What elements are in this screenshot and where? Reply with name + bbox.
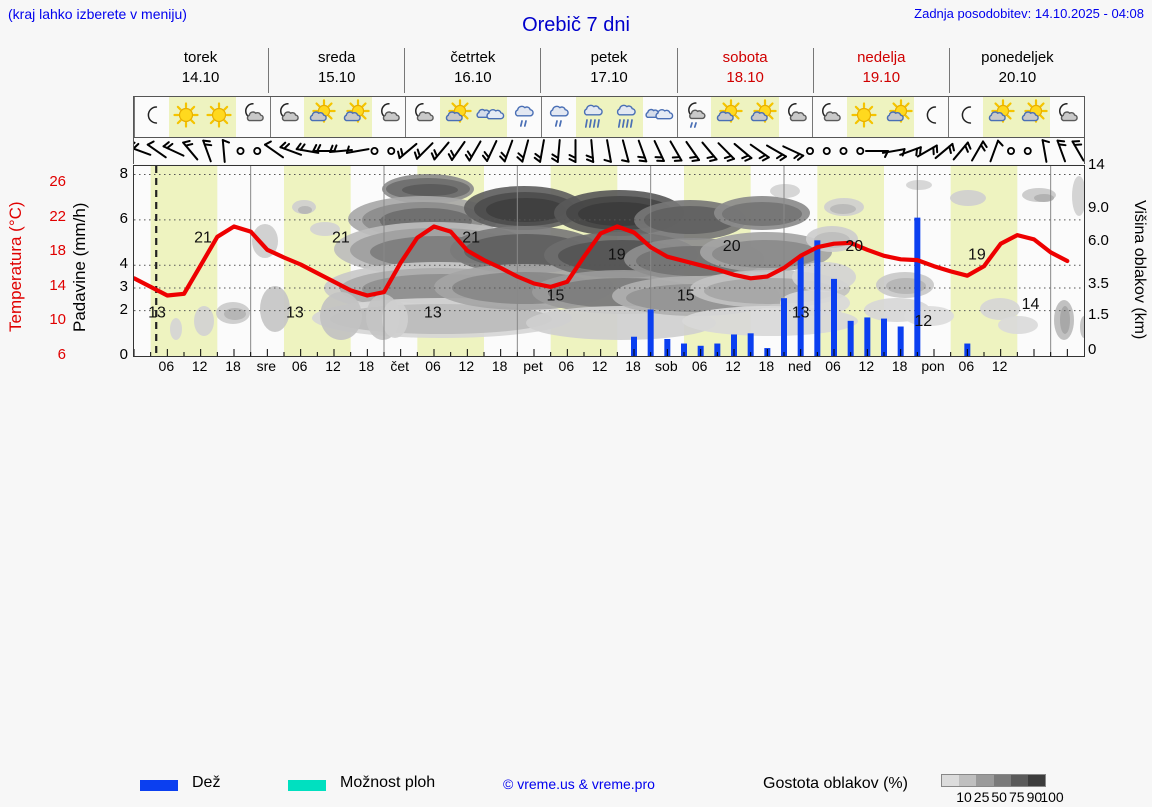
cloud-density-swatch — [959, 775, 976, 786]
cloud-icon — [474, 99, 508, 135]
moon-cloud-icon — [372, 99, 406, 135]
moon-cloud-icon — [779, 99, 813, 135]
day-date: 15.10 — [269, 68, 404, 88]
day-header-ponedeljek: ponedeljek20.10 — [949, 48, 1085, 93]
day-date: 17.10 — [541, 68, 676, 88]
temperature-axis-ticks: 26221814106 — [32, 165, 66, 357]
weather-icon-cell — [677, 97, 712, 137]
weather-icon-cell — [202, 97, 236, 137]
day-header-sreda: sreda15.10 — [268, 48, 404, 93]
moon-cloud-drizzle-icon — [678, 99, 712, 135]
svg-text:19: 19 — [608, 247, 626, 264]
precipitation-tick: 0 — [98, 346, 128, 363]
weather-icon-cell — [474, 97, 508, 137]
moon-cloud-icon — [271, 99, 305, 135]
cloud-icon — [643, 99, 677, 135]
time-tick-label: 18 — [892, 358, 908, 374]
cloud-density-colorbar — [941, 774, 1046, 787]
day-date: 16.10 — [405, 68, 540, 88]
precipitation-tick: 8 — [98, 165, 128, 182]
time-tick-label: 06 — [959, 358, 975, 374]
sun-cloud-icon — [711, 99, 745, 135]
svg-text:13: 13 — [792, 305, 810, 322]
cloud-density-swatch — [976, 775, 993, 786]
last-update: Zadnja posodobitev: 14.10.2025 - 04:08 — [914, 6, 1144, 21]
day-header-nedelja: nedelja19.10 — [813, 48, 949, 93]
time-tick-label: 06 — [825, 358, 841, 374]
time-tick-label: 12 — [725, 358, 741, 374]
time-axis-ticks: 061218sre061218čet061218pet061218sob0612… — [133, 358, 1085, 382]
svg-text:21: 21 — [462, 229, 480, 246]
rain-label: Dež — [192, 774, 220, 792]
svg-text:15: 15 — [547, 287, 565, 304]
cloud-rain-icon — [609, 99, 643, 135]
day-date: 20.10 — [950, 68, 1085, 88]
weather-icon-cell — [711, 97, 745, 137]
day-name: sobota — [678, 48, 813, 68]
weather-icon-cell — [983, 97, 1017, 137]
day-header-torek: torek14.10 — [133, 48, 268, 93]
svg-text:14: 14 — [1022, 296, 1040, 313]
weather-icon-cell — [338, 97, 372, 137]
day-name: ponedeljek — [950, 48, 1085, 68]
moon-icon — [949, 99, 983, 135]
sun-cloud-icon — [338, 99, 372, 135]
weather-icon-cell — [541, 97, 576, 137]
weather-icon-cell — [948, 97, 983, 137]
sun-cloud-icon — [304, 99, 338, 135]
sun-cloud-icon — [881, 99, 915, 135]
day-date: 18.10 — [678, 68, 813, 88]
cloud-density-tick: 100 — [1040, 789, 1063, 805]
cloud-height-tick: 14 — [1088, 156, 1105, 173]
weather-icon-cell — [507, 97, 541, 137]
weather-icon-cell — [270, 97, 305, 137]
precipitation-tick: 6 — [98, 210, 128, 227]
rain-swatch — [140, 780, 178, 791]
weather-icon-cell — [405, 97, 440, 137]
copyright-link[interactable]: © vreme.us & vreme.pro — [503, 776, 655, 792]
temperature-tick: 6 — [32, 346, 66, 363]
temperature-tick: 14 — [32, 277, 66, 294]
weather-icon-cell — [812, 97, 847, 137]
time-tick-label: pet — [523, 358, 542, 374]
day-header-sobota: sobota18.10 — [677, 48, 813, 93]
precipitation-tick: 4 — [98, 255, 128, 272]
time-tick-label: 12 — [992, 358, 1008, 374]
time-tick-label: 18 — [492, 358, 508, 374]
time-tick-label: pon — [921, 358, 944, 374]
cloud-density-tick: 50 — [991, 789, 1007, 805]
time-tick-label: 12 — [859, 358, 875, 374]
svg-text:20: 20 — [723, 238, 741, 255]
weather-icon-cell — [914, 97, 948, 137]
precipitation-tick: 2 — [98, 301, 128, 318]
cloud-density-ticks: 1025507590100 — [936, 789, 1061, 807]
weather-icon-cell — [576, 97, 610, 137]
precipitation-tick: 3 — [98, 278, 128, 295]
day-date: 14.10 — [133, 68, 268, 88]
weather-icon-cell — [847, 97, 881, 137]
time-tick-label: 06 — [692, 358, 708, 374]
temperature-tick: 18 — [32, 242, 66, 259]
day-name: petek — [541, 48, 676, 68]
legend: Dež Možnost ploh © vreme.us & vreme.pro … — [0, 386, 1152, 432]
cloud-density-tick: 75 — [1009, 789, 1025, 805]
svg-text:19: 19 — [968, 247, 986, 264]
weather-icon-cell — [779, 97, 813, 137]
svg-text:13: 13 — [424, 305, 442, 322]
day-header-četrtek: četrtek16.10 — [404, 48, 540, 93]
time-tick-label: 18 — [225, 358, 241, 374]
time-tick-label: 12 — [192, 358, 208, 374]
cloud-height-tick: 3.5 — [1088, 275, 1109, 292]
moon-cloud-icon — [1050, 99, 1084, 135]
moon-icon — [914, 99, 948, 135]
cloud-height-tick: 1.5 — [1088, 306, 1109, 323]
showers-label: Možnost ploh — [340, 774, 435, 792]
time-tick-label: sob — [655, 358, 678, 374]
time-tick-label: 06 — [159, 358, 175, 374]
weather-icon-cell — [881, 97, 915, 137]
moon-cloud-icon — [813, 99, 847, 135]
sun-cloud-icon — [1016, 99, 1050, 135]
cloud-density-tick: 10 — [956, 789, 972, 805]
day-header-row: torek14.10sreda15.10četrtek16.10petek17.… — [133, 48, 1085, 93]
cloud-density-label: Gostota oblakov (%) — [763, 775, 908, 793]
time-tick-label: 06 — [425, 358, 441, 374]
cloud-height-axis-title: Višina oblakov (km) — [1122, 170, 1148, 370]
moon-icon — [135, 99, 169, 135]
weather-icon-band — [133, 96, 1085, 138]
showers-swatch — [288, 780, 326, 791]
time-tick-label: 06 — [292, 358, 308, 374]
precipitation-axis-ticks: 864320 — [98, 165, 128, 357]
svg-text:12: 12 — [914, 313, 932, 330]
precipitation-axis-title: Padavine (mm/h) — [70, 172, 96, 362]
cloud-rain-icon — [576, 99, 610, 135]
cloud-density-swatch — [1028, 775, 1045, 786]
cloud-drizzle-icon — [507, 99, 541, 135]
weather-icon-cell — [169, 97, 203, 137]
moon-cloud-icon — [236, 99, 270, 135]
temperature-tick: 22 — [32, 208, 66, 225]
cloud-height-tick: 6.0 — [1088, 232, 1109, 249]
temperature-axis-title: Temperatura (°C) — [6, 172, 32, 362]
wind-barb-band — [133, 138, 1085, 164]
weather-icon-cell — [134, 97, 169, 137]
time-tick-label: 12 — [592, 358, 608, 374]
cloud-density-swatch — [994, 775, 1011, 786]
forecast-plot: 132113211321151915201320121914 — [133, 165, 1085, 357]
time-tick-label: 06 — [559, 358, 575, 374]
svg-text:21: 21 — [194, 229, 212, 246]
sun-cloud-icon — [745, 99, 779, 135]
cloud-density-tick: 25 — [974, 789, 990, 805]
sun-icon — [202, 99, 236, 135]
day-header-petek: petek17.10 — [540, 48, 676, 93]
weather-icon-cell — [745, 97, 779, 137]
cloud-height-tick: 0 — [1088, 341, 1096, 358]
time-tick-label: 18 — [759, 358, 775, 374]
sun-icon — [169, 99, 203, 135]
time-tick-label: ned — [788, 358, 811, 374]
weather-icon-cell — [304, 97, 338, 137]
time-tick-label: 12 — [325, 358, 341, 374]
svg-text:13: 13 — [286, 305, 304, 322]
sun-cloud-icon — [440, 99, 474, 135]
weather-icon-cell — [609, 97, 643, 137]
cloud-density-swatch — [942, 775, 959, 786]
weather-icon-cell — [1016, 97, 1050, 137]
weather-icon-cell — [236, 97, 270, 137]
svg-text:15: 15 — [677, 287, 695, 304]
svg-text:13: 13 — [148, 305, 166, 322]
temperature-tick: 26 — [32, 173, 66, 190]
day-date: 19.10 — [814, 68, 949, 88]
time-tick-label: čet — [390, 358, 409, 374]
day-name: torek — [133, 48, 268, 68]
svg-text:20: 20 — [845, 238, 863, 255]
cloud-density-swatch — [1011, 775, 1028, 786]
weather-icon-cell — [1050, 97, 1084, 137]
time-tick-label: sre — [257, 358, 276, 374]
cloud-drizzle-icon — [542, 99, 576, 135]
cloud-height-tick: 9.0 — [1088, 199, 1109, 216]
temperature-tick: 10 — [32, 311, 66, 328]
weather-icon-cell — [643, 97, 677, 137]
weather-icon-cell — [440, 97, 474, 137]
sun-icon — [847, 99, 881, 135]
day-name: sreda — [269, 48, 404, 68]
time-tick-label: 18 — [625, 358, 641, 374]
day-name: nedelja — [814, 48, 949, 68]
time-tick-label: 12 — [459, 358, 475, 374]
sun-cloud-icon — [983, 99, 1017, 135]
time-tick-label: 18 — [359, 358, 375, 374]
day-name: četrtek — [405, 48, 540, 68]
weather-icon-cell — [372, 97, 406, 137]
cloud-height-axis-ticks: 149.06.03.51.50 — [1088, 165, 1126, 357]
moon-cloud-icon — [406, 99, 440, 135]
svg-text:21: 21 — [332, 229, 350, 246]
